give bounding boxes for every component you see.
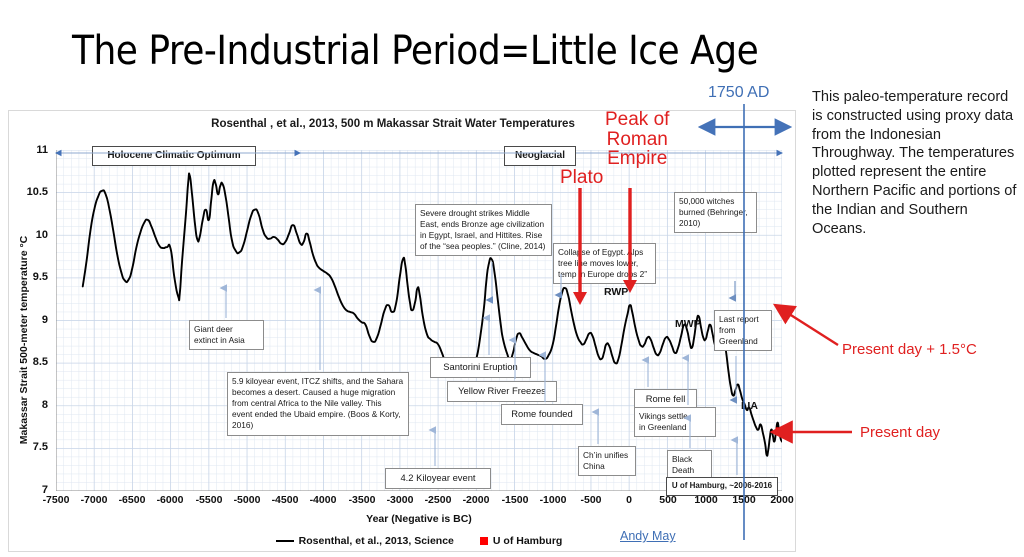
period-box-holocene-climatic-optimum: Holocene Climatic Optimum xyxy=(92,146,256,166)
callout-collapse-of-egypt: Collapse of Egypt. Alps tree line moves … xyxy=(553,243,656,284)
callout-vikings-settle: Vikings settle in Greenland xyxy=(634,407,716,437)
y-tick-10-5: 10.5 xyxy=(4,186,48,198)
callout-giant-deer-line2: extinct in Asia xyxy=(194,335,259,346)
red-label-peak-of-roman-empire: Peak of Roman Empire xyxy=(605,110,669,169)
callout-chin-line2: China xyxy=(583,461,631,472)
slide-root: The Pre-Industrial Period=Little Ice Age… xyxy=(0,0,1024,557)
page-title: The Pre-Industrial Period=Little Ice Age xyxy=(72,28,952,74)
y-tick-7-5: 7.5 xyxy=(4,441,48,453)
callout-black-death: Black Death xyxy=(667,450,712,480)
callout-chin-unifies-china: Ch’in unifies China xyxy=(578,446,636,476)
data-point-u-hamburg xyxy=(776,427,782,435)
marker-label-1750-ad: 1750 AD xyxy=(708,84,769,102)
callout-black-death-line2: Death xyxy=(672,465,707,476)
red-label-plato: Plato xyxy=(560,168,603,188)
x-tick-19: 2000 xyxy=(752,494,812,506)
y-axis-title: Makassar Strait 500-meter temperature °C xyxy=(18,210,30,470)
y-tick-10: 10 xyxy=(4,229,48,241)
callout-vikings-line2: in Greenland xyxy=(639,422,711,433)
callout-yellow-river-freezes: Yellow River Freezes xyxy=(447,381,557,402)
callout-u-of-hamburg: U of Hamburg, ~2006-2016 xyxy=(666,477,778,496)
period-box-neoglacial: Neoglacial xyxy=(504,146,576,166)
callout-severe-drought: Severe drought strikes Middle East, ends… xyxy=(415,204,552,256)
y-tick-8-5: 8.5 xyxy=(4,356,48,368)
y-tick-9-5: 9.5 xyxy=(4,271,48,283)
legend-item-u-hamburg: U of Hamburg xyxy=(480,535,562,547)
callout-vikings-line1: Vikings settle xyxy=(639,411,711,422)
callout-santorini-eruption: Santorini Eruption xyxy=(430,357,531,378)
y-tick-11: 11 xyxy=(4,144,48,156)
callout-black-death-line1: Black xyxy=(672,454,707,465)
legend-line-icon xyxy=(276,540,294,543)
legend-item-rosenthal: Rosenthal, et al., 2013, Science xyxy=(276,535,454,547)
author-link-andy-may[interactable]: Andy May xyxy=(620,529,676,543)
callout-rome-founded: Rome founded xyxy=(501,404,583,425)
legend-square-icon xyxy=(480,537,488,545)
y-tick-9: 9 xyxy=(4,314,48,326)
y-tick-8: 8 xyxy=(4,399,48,411)
plot-label-mwp: MWP xyxy=(675,318,701,330)
legend-label-u-hamburg: U of Hamburg xyxy=(493,535,562,547)
plot-label-rwp: RWP xyxy=(604,286,628,298)
x-axis-title: Year (Negative is BC) xyxy=(56,513,782,525)
callout-chin-line1: Ch’in unifies xyxy=(583,450,631,461)
label-present-day: Present day xyxy=(860,424,940,441)
plot-label-lia: LIA xyxy=(741,400,758,412)
callout-50000-witches: 50,000 witches burned (Behringer, 2010) xyxy=(674,192,757,233)
callout-5-9-kiloyear: 5.9 kiloyear event, ITCZ shifts, and the… xyxy=(227,372,409,436)
callout-giant-deer: Giant deer extinct in Asia xyxy=(189,320,264,350)
legend-label-rosenthal: Rosenthal, et al., 2013, Science xyxy=(299,535,454,547)
callout-last-report-from-greenland: Last report from Greenland xyxy=(714,310,772,351)
label-present-day-plus-1-5c: Present day + 1.5°C xyxy=(842,341,977,358)
callout-giant-deer-line1: Giant deer xyxy=(194,324,259,335)
callout-4-2-kiloyear: 4.2 Kiloyear event xyxy=(385,468,491,489)
series-u-hamburg xyxy=(776,427,782,435)
side-description-paragraph: This paleo-temperature record is constru… xyxy=(812,88,1020,239)
